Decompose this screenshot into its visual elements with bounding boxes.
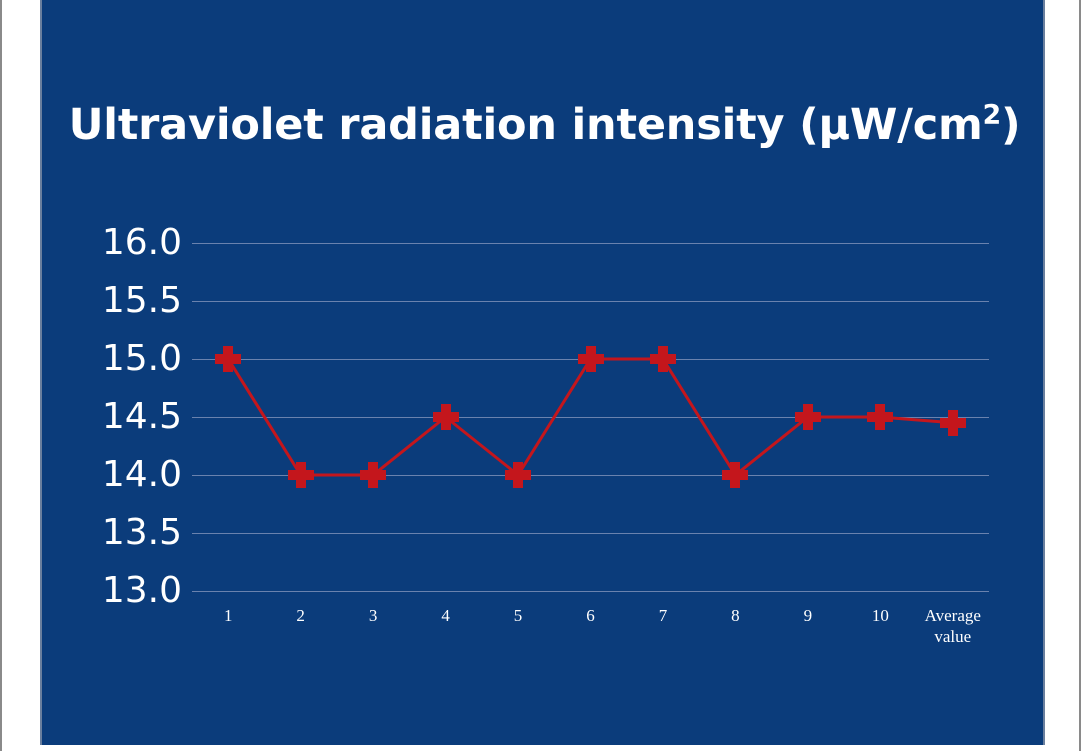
plot-area: 16.015.515.014.514.013.513.0 12345678910…: [192, 243, 989, 591]
chart-title-suffix: ): [1001, 100, 1020, 150]
chart-title: Ultraviolet radiation intensity (µW/cm2): [42, 100, 1045, 150]
y-axis-label: 14.0: [102, 457, 182, 493]
y-axis-label: 14.5: [102, 399, 182, 435]
x-axis-label: 6: [586, 605, 595, 626]
x-axis-label: 4: [441, 605, 450, 626]
x-axis-label: 8: [731, 605, 740, 626]
x-axis-label: 1: [224, 605, 233, 626]
x-axis-label: 9: [804, 605, 813, 626]
x-axis-label: Averagevalue: [925, 605, 981, 648]
x-axis-label: 2: [296, 605, 305, 626]
x-axis-label: 10: [872, 605, 889, 626]
chart-title-main: Ultraviolet radiation intensity (µW/cm: [69, 100, 983, 150]
x-axis-label: 3: [369, 605, 378, 626]
y-axis-label: 15.0: [102, 341, 182, 377]
x-axis-label: 7: [659, 605, 668, 626]
x-axis-label: 5: [514, 605, 523, 626]
y-axis-label: 13.5: [102, 515, 182, 551]
series-line: [192, 243, 989, 591]
gridline: [192, 591, 989, 592]
slide-canvas: Ultraviolet radiation intensity (µW/cm2)…: [0, 0, 1081, 751]
y-axis-label: 15.5: [102, 283, 182, 319]
chart-title-superscript: 2: [983, 100, 1001, 131]
chart-panel: Ultraviolet radiation intensity (µW/cm2)…: [40, 0, 1045, 745]
y-axis-label: 13.0: [102, 573, 182, 609]
y-axis-label: 16.0: [102, 225, 182, 261]
